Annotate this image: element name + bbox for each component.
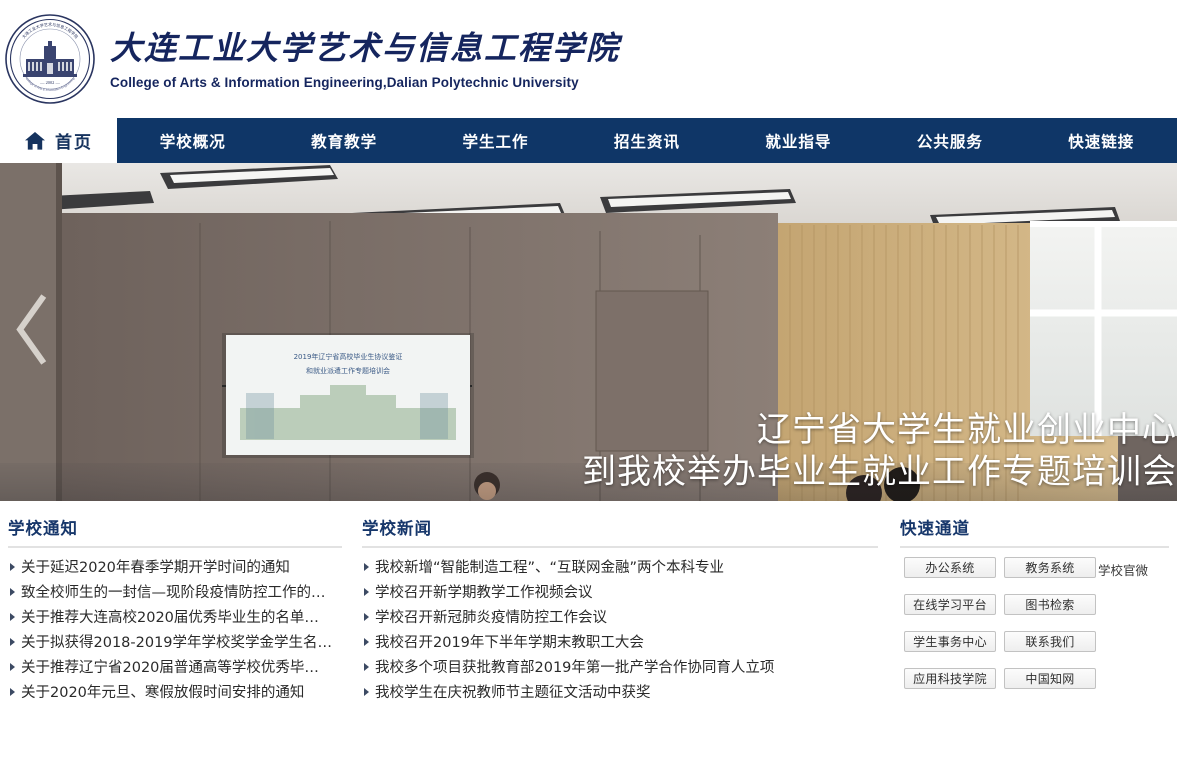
list-item[interactable]: 关于推荐大连高校2020届优秀毕业生的名单公示 <box>8 604 342 629</box>
notice-link: 致全校师生的一封信—现阶段疫情防控工作的有… <box>21 581 333 602</box>
nav-item-quick-links[interactable]: 快速链接 <box>1026 118 1177 163</box>
section-divider <box>8 546 342 548</box>
svg-text:— 2002 —: — 2002 — <box>39 80 60 85</box>
list-item[interactable]: 关于拟获得2018-2019学年学校奖学金学生名单… <box>8 629 342 654</box>
school-notices-title: 学校通知 <box>8 515 342 546</box>
quick-link-online-learning[interactable]: 在线学习平台 <box>904 594 996 615</box>
list-item[interactable]: 关于推荐辽宁省2020届普通高等学校优秀毕业… <box>8 654 342 679</box>
projection-screen: 2019年辽宁省高校毕业生协议鉴证 和就业派遣工作专题培训会 <box>222 333 474 458</box>
main-navigation: 首页 学校概况 教育教学 学生工作 招生资讯 就业指导 公共服务 快速链接 <box>0 118 1177 163</box>
carousel-prev-button[interactable] <box>12 293 52 372</box>
news-link: 我校召开2019年下半年学期末教职工大会 <box>375 631 644 652</box>
school-news-panel: 学校新闻 我校新增“智能制造工程”、“互联网金融”两个本科专业 学校召开新学期教… <box>352 515 890 770</box>
triangle-bullet-icon <box>10 663 15 671</box>
quick-link-label: 办公系统 <box>925 559 974 576</box>
notice-link: 关于推荐大连高校2020届优秀毕业生的名单公示 <box>21 606 333 627</box>
quick-channel-title: 快速通道 <box>900 515 1169 546</box>
home-icon <box>24 131 46 151</box>
svg-text:2019年辽宁省高校毕业生协议鉴证: 2019年辽宁省高校毕业生协议鉴证 <box>294 352 403 361</box>
list-item[interactable]: 关于延迟2020年春季学期开学时间的通知 <box>8 554 342 579</box>
quick-link-label: 应用科技学院 <box>913 670 987 687</box>
site-title-en: College of Arts & Information Engineerin… <box>110 75 620 90</box>
quick-link-label: 图书检索 <box>1025 596 1074 613</box>
nav-item-education-teaching[interactable]: 教育教学 <box>268 118 419 163</box>
quick-channel-button-grid: 办公系统 教务系统 在线学习平台 图书检索 学生事务中心 联系我们 <box>900 557 1096 689</box>
section-divider <box>900 546 1169 548</box>
quick-link-applied-science-college[interactable]: 应用科技学院 <box>904 668 996 689</box>
school-news-list: 我校新增“智能制造工程”、“互联网金融”两个本科专业 学校召开新学期教学工作视频… <box>362 554 878 704</box>
triangle-bullet-icon <box>364 563 369 571</box>
university-crest-icon: — 2002 — 大连工业大学艺术与信息工程学院 College of Arts… <box>4 13 96 105</box>
main-content: 学校通知 关于延迟2020年春季学期开学时间的通知 致全校师生的一封信—现阶段疫… <box>0 501 1177 770</box>
quick-link-student-service-center[interactable]: 学生事务中心 <box>904 631 996 652</box>
list-item[interactable]: 关于2020年元旦、寒假放假时间安排的通知 <box>8 679 342 704</box>
nav-item-label: 就业指导 <box>765 130 831 152</box>
school-notices-list: 关于延迟2020年春季学期开学时间的通知 致全校师生的一封信—现阶段疫情防控工作… <box>8 554 342 704</box>
notice-link: 关于2020年元旦、寒假放假时间安排的通知 <box>21 681 304 702</box>
list-item[interactable]: 我校新增“智能制造工程”、“互联网金融”两个本科专业 <box>362 554 878 579</box>
quick-link-office-system[interactable]: 办公系统 <box>904 557 996 578</box>
triangle-bullet-icon <box>10 588 15 596</box>
triangle-bullet-icon <box>10 688 15 696</box>
news-link: 学校召开新冠肺炎疫情防控工作会议 <box>375 606 607 627</box>
nav-item-label: 公共服务 <box>917 130 983 152</box>
quick-link-label: 联系我们 <box>1025 633 1074 650</box>
notice-link: 关于延迟2020年春季学期开学时间的通知 <box>21 556 290 577</box>
list-item[interactable]: 学校召开新学期教学工作视频会议 <box>362 579 878 604</box>
quick-channel-panel: 快速通道 办公系统 教务系统 在线学习平台 图书检索 学生事务中心 <box>890 515 1177 770</box>
list-item[interactable]: 我校多个项目获批教育部2019年第一批产学合作协同育人立项 <box>362 654 878 679</box>
nav-item-list: 学校概况 教育教学 学生工作 招生资讯 就业指导 公共服务 快速链接 <box>117 118 1177 163</box>
quick-link-label: 学生事务中心 <box>913 633 987 650</box>
site-title-block: 大连工业大学艺术与信息工程学院 College of Arts & Inform… <box>110 28 620 90</box>
school-news-title: 学校新闻 <box>362 515 878 546</box>
section-divider <box>362 546 878 548</box>
banner-photo: 2019年辽宁省高校毕业生协议鉴证 和就业派遣工作专题培训会 <box>0 163 1177 501</box>
triangle-bullet-icon <box>364 613 369 621</box>
triangle-bullet-icon <box>364 663 369 671</box>
official-wechat-block: 学校官微 <box>1077 560 1169 579</box>
list-item[interactable]: 致全校师生的一封信—现阶段疫情防控工作的有… <box>8 579 342 604</box>
svg-text:和就业派遣工作专题培训会: 和就业派遣工作专题培训会 <box>306 366 390 375</box>
hero-banner-carousel[interactable]: 2019年辽宁省高校毕业生协议鉴证 和就业派遣工作专题培训会 <box>0 163 1177 501</box>
notice-link: 关于推荐辽宁省2020届普通高等学校优秀毕业… <box>21 656 333 677</box>
triangle-bullet-icon <box>364 688 369 696</box>
news-link: 我校学生在庆祝教师节主题征文活动中获奖 <box>375 681 651 702</box>
nav-item-label: 快速链接 <box>1068 130 1134 152</box>
triangle-bullet-icon <box>10 638 15 646</box>
quick-link-library-search[interactable]: 图书检索 <box>1004 594 1096 615</box>
triangle-bullet-icon <box>10 563 15 571</box>
nav-item-label: 学生工作 <box>463 130 529 152</box>
nav-item-label: 招生资讯 <box>614 130 680 152</box>
quick-link-contact-us[interactable]: 联系我们 <box>1004 631 1096 652</box>
nav-item-label: 学校概况 <box>160 130 226 152</box>
site-title-cn: 大连工业大学艺术与信息工程学院 <box>110 28 620 68</box>
school-notices-panel: 学校通知 关于延迟2020年春季学期开学时间的通知 致全校师生的一封信—现阶段疫… <box>0 515 352 770</box>
quick-link-label: 教务系统 <box>1025 559 1074 576</box>
triangle-bullet-icon <box>10 613 15 621</box>
news-link: 我校多个项目获批教育部2019年第一批产学合作协同育人立项 <box>375 656 774 677</box>
list-item[interactable]: 学校召开新冠肺炎疫情防控工作会议 <box>362 604 878 629</box>
list-item[interactable]: 我校召开2019年下半年学期末教职工大会 <box>362 629 878 654</box>
quick-link-label: 在线学习平台 <box>913 596 987 613</box>
quick-link-label: 中国知网 <box>1025 670 1074 687</box>
list-item[interactable]: 我校学生在庆祝教师节主题征文活动中获奖 <box>362 679 878 704</box>
news-link: 学校召开新学期教学工作视频会议 <box>375 581 593 602</box>
notice-link: 关于拟获得2018-2019学年学校奖学金学生名单… <box>21 631 333 652</box>
nav-home-label: 首页 <box>55 128 93 153</box>
nav-item-home[interactable]: 首页 <box>0 118 117 163</box>
nav-item-public-services[interactable]: 公共服务 <box>874 118 1025 163</box>
nav-item-label: 教育教学 <box>311 130 377 152</box>
nav-item-school-overview[interactable]: 学校概况 <box>117 118 268 163</box>
quick-link-cnki[interactable]: 中国知网 <box>1004 668 1096 689</box>
site-header: — 2002 — 大连工业大学艺术与信息工程学院 College of Arts… <box>0 0 1177 118</box>
nav-item-student-affairs[interactable]: 学生工作 <box>420 118 571 163</box>
official-wechat-label: 学校官微 <box>1077 560 1169 579</box>
triangle-bullet-icon <box>364 588 369 596</box>
quick-channel-body: 办公系统 教务系统 在线学习平台 图书检索 学生事务中心 联系我们 <box>900 554 1169 689</box>
nav-item-admissions[interactable]: 招生资讯 <box>571 118 722 163</box>
news-link: 我校新增“智能制造工程”、“互联网金融”两个本科专业 <box>375 556 724 577</box>
triangle-bullet-icon <box>364 638 369 646</box>
chevron-left-icon <box>12 354 52 371</box>
nav-item-career-guidance[interactable]: 就业指导 <box>723 118 874 163</box>
